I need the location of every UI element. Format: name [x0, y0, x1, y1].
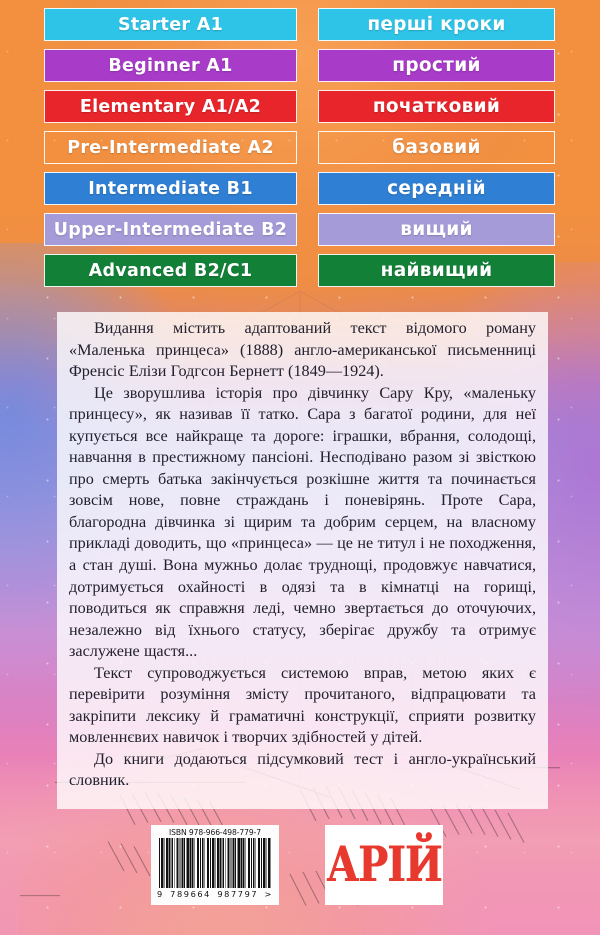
level-ua-intermediate: середній [318, 172, 555, 205]
level-scale-table: Starter A1 перші кроки Beginner A1 прост… [0, 0, 600, 295]
blurb-paragraph-3: Текст супроводжується системою вправ, ме… [69, 663, 536, 749]
level-ua-pre-intermediate: базовий [318, 131, 555, 164]
level-ua-elementary: початковий [318, 90, 555, 123]
level-en-starter: Starter A1 [44, 8, 297, 41]
level-en-intermediate: Intermediate B1 [44, 172, 297, 205]
blurb-paragraph-2: Це зворушлива історія про дівчинку Сару … [69, 383, 536, 663]
book-back-cover: Starter A1 перші кроки Beginner A1 прост… [0, 0, 600, 935]
level-ua-beginner: простий [318, 49, 555, 82]
level-row: Intermediate B1 середній [0, 172, 600, 205]
level-ua-advanced: найвищий [318, 254, 555, 287]
level-en-upper-intermediate: Upper-Intermediate B2 [44, 213, 297, 246]
barcode: ISBN 978-966-498-779-7 9 789664 987797 > [151, 825, 279, 905]
barcode-digit-left: 9 [157, 889, 164, 899]
level-ua-upper-intermediate: вищий [318, 213, 555, 246]
barcode-digit-right: 987797 [217, 889, 258, 899]
level-row: Upper-Intermediate B2 вищий [0, 213, 600, 246]
publisher-logo-text: АРІЙ [326, 841, 441, 890]
barcode-bars [159, 838, 271, 888]
level-ua-starter: перші кроки [318, 8, 555, 41]
level-en-beginner: Beginner A1 [44, 49, 297, 82]
level-row: Beginner A1 простий [0, 49, 600, 82]
level-en-advanced: Advanced B2/C1 [44, 254, 297, 287]
blurb-panel: Видання містить адаптований текст відомо… [57, 312, 548, 809]
level-row: Pre-Intermediate A2 базовий [0, 131, 600, 164]
level-row: Elementary A1/A2 початковий [0, 90, 600, 123]
barcode-digit-end: > [265, 889, 273, 899]
level-en-pre-intermediate: Pre-Intermediate A2 [44, 131, 297, 164]
isbn-label: ISBN 978-966-498-779-7 [169, 828, 261, 837]
barcode-digit-mid: 789664 [170, 889, 211, 899]
level-en-elementary: Elementary A1/A2 [44, 90, 297, 123]
blurb-paragraph-4: До книги додаються підсумковий тест і ан… [69, 749, 536, 792]
level-row: Starter A1 перші кроки [0, 8, 600, 41]
blurb-paragraph-1: Видання містить адаптований текст відомо… [69, 318, 536, 383]
publisher-logo: АРІЙ [325, 825, 443, 905]
barcode-digits: 9 789664 987797 > [156, 889, 274, 899]
level-row: Advanced B2/C1 найвищий [0, 254, 600, 287]
